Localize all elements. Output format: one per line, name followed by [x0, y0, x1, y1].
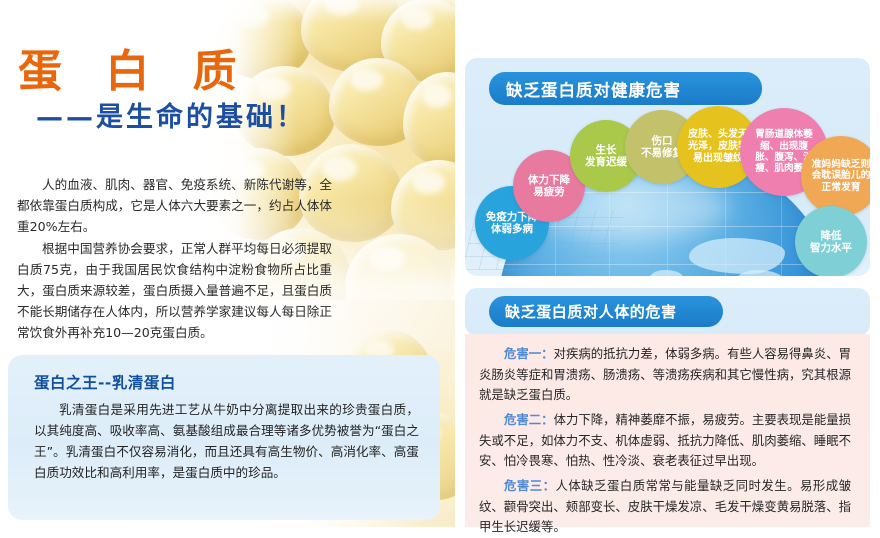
bubble-stamina-label: 体力下降 易疲劳: [528, 174, 570, 199]
left-column: 蛋 白 质 ——是生命的基础！ 人的血液、肌肉、器官、免疫系统、新陈代谢等，全都…: [0, 0, 455, 527]
health-harm-title: 缺乏蛋白质对健康危害: [489, 72, 762, 105]
whey-protein-card: 蛋白之王--乳清蛋白 乳清蛋白是采用先进工艺从牛奶中分离提取出来的珍贵蛋白质，以…: [8, 355, 440, 520]
bubble-growth-label: 生长 发育迟缓: [585, 144, 627, 169]
harm-label-3: 危害三：: [504, 478, 555, 493]
intro-paragraph-1: 人的血液、肌肉、器官、免疫系统、新陈代谢等，全都依靠蛋白质构成，它是人体六大要素…: [17, 174, 332, 237]
whey-protein-heading: 蛋白之王--乳清蛋白: [34, 371, 176, 393]
harm-label-2: 危害二：: [504, 412, 554, 427]
page-subtitle: ——是生命的基础！: [36, 104, 306, 131]
harm-item-1: 危害一：对疾病的抵抗力差，体弱多病。有些人容易得鼻炎、胃炎肠炎等症和胃溃疡、肠溃…: [479, 344, 851, 406]
body-harm-title: 缺乏蛋白质对人体的危害: [489, 296, 723, 327]
harm-item-2: 危害二：体力下降，精神萎靡不振，易疲劳。主要表现是能量损失或不足，如体力不支、机…: [479, 410, 851, 472]
harm-label-1: 危害一：: [504, 346, 554, 361]
page-title: 蛋 白 质: [18, 50, 251, 94]
bubble-intelligence-label: 降低 智力水平: [810, 230, 852, 255]
intro-paragraph-2: 根据中国营养协会要求，正常人群平均每日必须提取白质75克，由于我国居民饮食结构中…: [17, 238, 332, 343]
body-harm-panel: 缺乏蛋白质对人体的危害: [465, 288, 870, 336]
infographic-page: 蛋 白 质 ——是生命的基础！ 人的血液、肌肉、器官、免疫系统、新陈代谢等，全都…: [0, 0, 880, 527]
harm-text-panel: 危害一：对疾病的抵抗力差，体弱多病。有些人容易得鼻炎、胃炎肠炎等症和胃溃疡、肠溃…: [465, 334, 870, 527]
health-harm-panel: 缺乏蛋白质对健康危害 免疫力下降 体弱多病 体力下降 易疲劳 生长 发育迟缓: [465, 58, 870, 276]
bubble-intelligence: 降低 智力水平: [795, 206, 867, 276]
whey-protein-body: 乳清蛋白是采用先进工艺从牛奶中分离提取出来的珍贵蛋白质，以其纯度高、吸收率高、氨…: [34, 399, 419, 483]
harm-item-3: 危害三：人体缺乏蛋白质常常与能量缺乏同时发生。易形成皱纹、颧骨突出、颊部变长、皮…: [479, 476, 851, 538]
bubble-pregnancy-label: 准妈妈缺乏则 会耽误胎儿的 正常发育: [812, 159, 870, 194]
right-column: 缺乏蛋白质对健康危害 免疫力下降 体弱多病 体力下降 易疲劳 生长 发育迟缓: [455, 0, 880, 527]
bubble-skin-hair-label: 皮肤、头发无 光泽，皮肤容 易出现皱纹: [688, 129, 748, 164]
